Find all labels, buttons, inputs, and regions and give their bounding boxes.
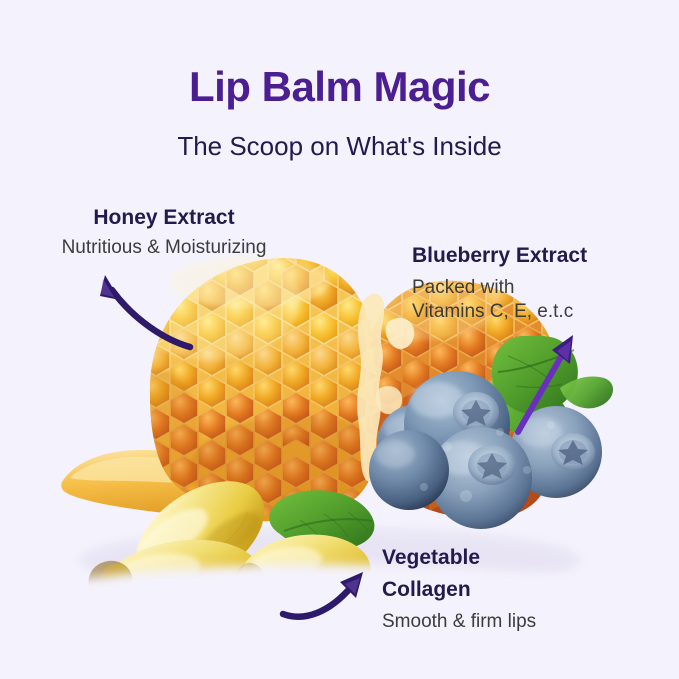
collagen-callout-arrow — [283, 572, 363, 617]
callout-blueberry-description-line2: Vitamins C, E, e.t.c — [412, 300, 587, 324]
infographic-canvas: Lip Balm Magic The Scoop on What's Insid… — [0, 0, 679, 679]
honey-drizzle-illustration — [61, 450, 346, 521]
basil-leaf-illustration — [269, 490, 374, 550]
callout-honey-heading: Honey Extract — [44, 206, 284, 231]
callout-vegetable-collagen: Vegetable Collagen Smooth & firm lips — [382, 546, 536, 633]
callout-collagen-heading-line2: Collagen — [382, 578, 536, 603]
callout-honey-description: Nutritious & Moisturizing — [44, 236, 284, 260]
callout-collagen-heading-line1: Vegetable — [382, 546, 536, 571]
blueberry-leaves-illustration — [492, 336, 613, 440]
blueberry-callout-arrow — [518, 335, 573, 432]
callout-blueberry-extract: Blueberry Extract Packed with Vitamins C… — [412, 244, 587, 324]
page-subtitle: The Scoop on What's Inside — [0, 132, 679, 161]
page-title: Lip Balm Magic — [0, 66, 679, 108]
blueberries-illustration — [369, 371, 602, 529]
callout-blueberry-heading: Blueberry Extract — [412, 244, 587, 269]
callout-collagen-description: Smooth & firm lips — [382, 610, 536, 634]
callout-blueberry-description-line1: Packed with — [412, 276, 587, 300]
callout-honey-extract: Honey Extract Nutritious & Moisturizing — [44, 206, 284, 260]
honey-callout-arrow — [100, 275, 190, 347]
oil-capsules-illustration — [84, 459, 375, 642]
